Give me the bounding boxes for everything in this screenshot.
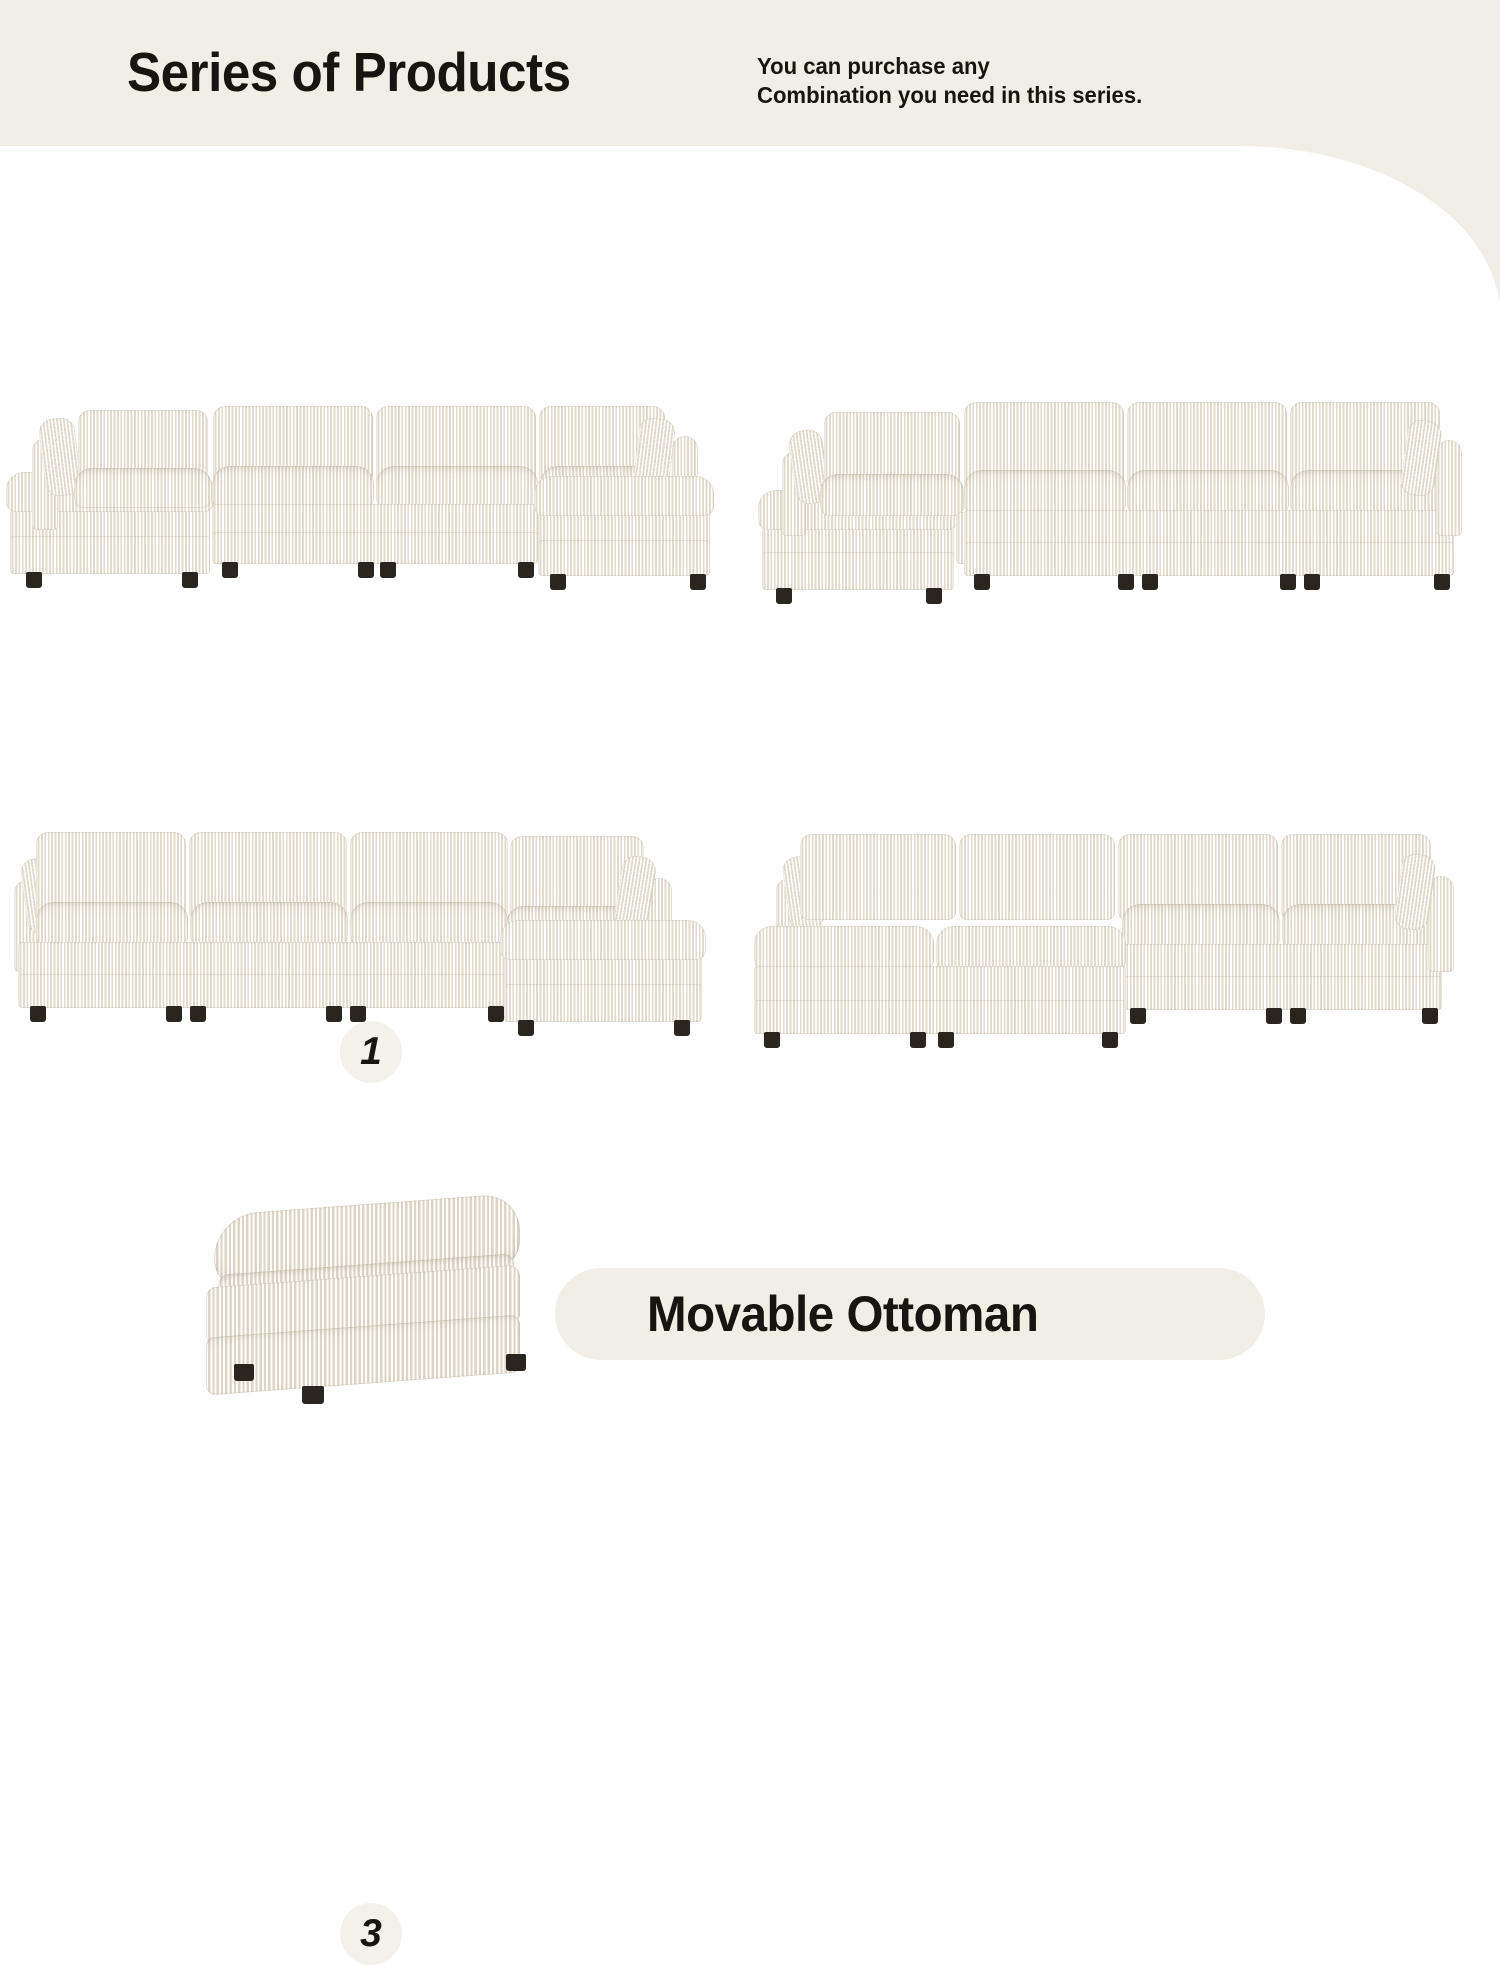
ottoman-right-skirt	[538, 540, 710, 576]
foot	[1142, 574, 1158, 590]
sofa-base-front	[964, 510, 1454, 546]
foot	[222, 562, 238, 578]
configuration-3[interactable]: 3	[0, 810, 740, 1050]
sofa-base-skirt	[212, 532, 538, 564]
foot	[380, 562, 396, 578]
foot	[302, 1386, 324, 1404]
foot	[938, 1032, 954, 1048]
foot	[1266, 1008, 1282, 1024]
seat-cushion-2	[376, 466, 538, 508]
header-band: Series of Products You can purchase any …	[0, 0, 1500, 300]
foot	[1280, 574, 1296, 590]
foot	[350, 1006, 366, 1022]
foot	[518, 562, 534, 578]
config-badge-3: 3	[340, 1903, 402, 1965]
seat-cushion-3	[350, 902, 508, 946]
ottoman-base-skirt	[754, 1000, 1126, 1034]
ottoman-base-front	[754, 966, 1126, 1004]
seat-cushion-3	[1122, 904, 1280, 948]
foot	[974, 574, 990, 590]
foot	[182, 572, 198, 588]
foot	[234, 1364, 254, 1381]
sofa-base-skirt	[18, 974, 510, 1008]
seat-cushion-1	[36, 902, 188, 946]
ottoman-skirt	[762, 552, 954, 590]
sofa-base-skirt	[964, 542, 1454, 576]
page-title: Series of Products	[127, 40, 571, 104]
seat-cushion-1	[964, 470, 1126, 514]
foot	[550, 574, 566, 590]
foot	[1434, 574, 1450, 590]
foot	[326, 1006, 342, 1022]
arm-right	[1436, 440, 1462, 536]
foot	[506, 1354, 526, 1371]
ottoman-left-skirt	[10, 536, 210, 574]
header-curve-cutout	[0, 146, 1500, 300]
foot	[1130, 1008, 1146, 1024]
header-text-group: Series of Products You can purchase any …	[0, 0, 1500, 146]
movable-ottoman-banner: Movable Ottoman	[555, 1268, 1265, 1360]
seat-cushion-2	[190, 902, 348, 946]
backrest-1	[800, 834, 956, 920]
seat-cushion-1	[212, 466, 374, 508]
foot	[518, 1020, 534, 1036]
foot	[488, 1006, 504, 1022]
configuration-2[interactable]: 2	[750, 380, 1490, 620]
foot	[764, 1032, 780, 1048]
infographic-page: Series of Products You can purchase any …	[0, 0, 1500, 1500]
ottoman-b-cushion	[936, 926, 1126, 970]
foot	[30, 1006, 46, 1022]
ottoman-a-cushion	[754, 926, 934, 970]
ottoman-cushion	[500, 920, 706, 960]
sofa-base-front	[1118, 944, 1442, 980]
backrest-2	[959, 834, 1115, 920]
foot	[1304, 574, 1320, 590]
foot	[358, 562, 374, 578]
ottoman-hero-illustration[interactable]	[190, 1190, 610, 1430]
foot	[776, 588, 792, 604]
ottoman-right-cushion	[534, 476, 714, 516]
sofa-base-skirt	[1118, 976, 1442, 1010]
foot	[674, 1020, 690, 1036]
foot	[166, 1006, 182, 1022]
foot	[1290, 1008, 1306, 1024]
configuration-4[interactable]: 4	[750, 810, 1490, 1050]
foot	[1118, 574, 1134, 590]
ottoman-skirt	[504, 984, 702, 1022]
foot	[1422, 1008, 1438, 1024]
foot	[690, 574, 706, 590]
foot	[910, 1032, 926, 1048]
sofa-base-front	[18, 942, 510, 978]
foot	[190, 1006, 206, 1022]
seat-cushion-2	[1127, 470, 1289, 514]
foot	[926, 588, 942, 604]
page-subtitle: You can purchase any Combination you nee…	[757, 52, 1142, 110]
configuration-1[interactable]: 1	[0, 380, 740, 620]
foot	[26, 572, 42, 588]
foot	[1102, 1032, 1118, 1048]
movable-ottoman-label: Movable Ottoman	[647, 1285, 1038, 1343]
seat-cushion-corner	[820, 474, 964, 516]
seat-cushion-corner-left	[74, 468, 212, 508]
